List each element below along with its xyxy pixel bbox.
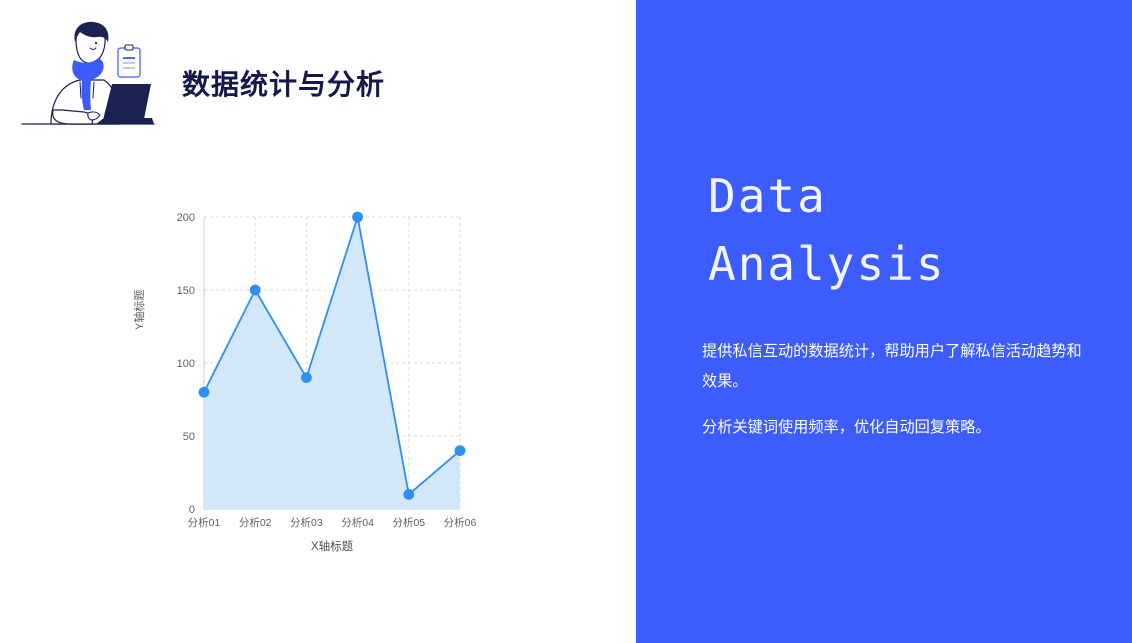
chart-y-axis-title: Y轴标题 (131, 290, 147, 330)
description-paragraph-1: 提供私信互动的数据统计，帮助用户了解私信活动趋势和效果。 (702, 337, 1088, 397)
chart-x-tick-label: 分析02 (239, 516, 272, 529)
chart-x-tick-label: 分析01 (188, 516, 221, 529)
chart-x-tick-label: 分析06 (444, 516, 477, 529)
chart-y-tick-label: 50 (183, 431, 195, 443)
chart-data-point (199, 387, 210, 398)
description-text-block: 提供私信互动的数据统计，帮助用户了解私信活动趋势和效果。 分析关键词使用频率，优… (702, 337, 1088, 443)
person-working-on-laptop-illustration (18, 18, 158, 133)
chart-x-tick-label: 分析05 (392, 516, 425, 529)
chart-x-tick-label: 分析04 (341, 516, 374, 529)
chart-data-point (301, 372, 312, 383)
headline-line-1: Data (708, 169, 827, 223)
page-title: 数据统计与分析 (182, 63, 385, 103)
chart-y-tick-label: 0 (189, 504, 195, 516)
chart-data-point (455, 445, 466, 456)
chart-y-tick-label: 150 (177, 285, 195, 297)
headline-line-2: Analysis (708, 230, 1108, 298)
chart-data-point (403, 489, 414, 500)
chart-y-tick-label: 200 (177, 212, 195, 224)
clipboard-icon (118, 45, 140, 77)
chart-data-point (352, 212, 363, 223)
right-accent-pane: Data Analysis 提供私信互动的数据统计，帮助用户了解私信活动趋势和效… (636, 0, 1132, 643)
chart-data-point (250, 285, 261, 296)
data-analysis-area-chart: 050100150200分析01分析02分析03分析04分析05分析06 (126, 196, 526, 566)
left-content-pane: 数据统计与分析 050100150200分析01分析02分析03分析04分析05… (0, 0, 636, 643)
chart-canvas: 050100150200分析01分析02分析03分析04分析05分析06 (126, 196, 526, 566)
chart-x-axis-title: X轴标题 (204, 538, 460, 554)
chart-x-tick-label: 分析03 (290, 516, 323, 529)
slide-root: 数据统计与分析 050100150200分析01分析02分析03分析04分析05… (0, 0, 1132, 643)
chart-y-tick-label: 100 (177, 358, 195, 370)
description-paragraph-2: 分析关键词使用频率，优化自动回复策略。 (702, 413, 1088, 443)
headline-data-analysis: Data Analysis (708, 162, 1108, 298)
